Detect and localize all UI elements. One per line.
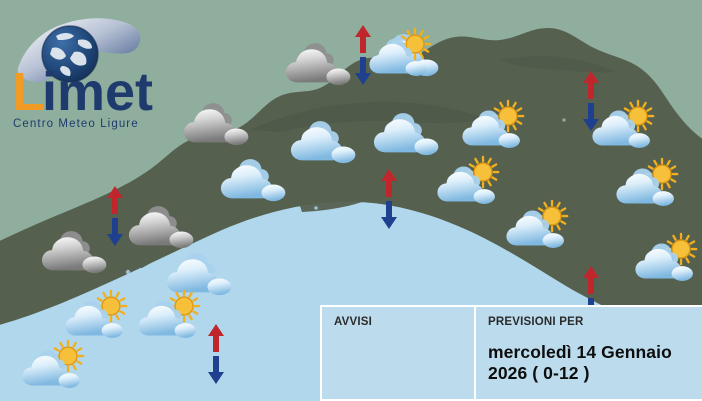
avvisi-heading: AVVISI: [334, 316, 462, 329]
arrow-down-icon: [107, 218, 123, 246]
arrow-down-icon: [208, 356, 224, 384]
arrow-trend-3-icon: [378, 168, 400, 230]
arrow-up-icon: [355, 25, 371, 53]
arrow-up-icon: [583, 71, 599, 99]
panel-avvisi[interactable]: AVVISI: [322, 307, 474, 399]
cloud-side-puff: [331, 147, 355, 164]
panel-previsioni[interactable]: PREVISIONI PER mercoledì 14 Gennaio 2026…: [476, 307, 702, 399]
sun-cloud-5-icon: [590, 100, 670, 150]
arrow-up-icon: [208, 324, 224, 352]
cloud-overcast-4-icon: [39, 228, 113, 274]
arrow-trend-1-icon: [352, 24, 374, 86]
arrow-down-icon: [583, 103, 599, 131]
cloud-side-puff: [543, 233, 564, 248]
weather-map-stage: L imet Centro Meteo Ligure AVVISI PREVIS…: [0, 0, 702, 401]
sun-cloud-6-icon: [614, 158, 694, 208]
arrow-down-icon: [381, 201, 397, 229]
cloud-side-puff: [499, 133, 520, 148]
cloud-side-puff: [629, 133, 650, 148]
cloud-side-puff: [653, 191, 674, 206]
sun-cloud-4-icon: [504, 200, 584, 250]
sun-cloud-10-icon: [20, 340, 100, 390]
sun-cloud-3-icon: [435, 156, 515, 206]
cloud-side-puff: [224, 129, 248, 146]
cloud-side-puff: [672, 266, 693, 281]
sun-cloud-1-icon: [367, 28, 447, 78]
sun-cloud-9-icon: [136, 290, 216, 340]
cloud-side-puff: [59, 373, 80, 388]
arrow-down-icon: [355, 57, 371, 85]
previsioni-line2: 2026 ( 0-12 ): [488, 363, 690, 384]
arrow-up-icon: [381, 169, 397, 197]
cloud-side-puff: [175, 323, 196, 338]
previsioni-body: mercoledì 14 Gennaio 2026 ( 0-12 ): [488, 342, 690, 385]
cloud-light-3-icon: [371, 110, 445, 156]
cloud-light-2-icon: [288, 118, 362, 164]
sun-cloud-2-icon: [460, 100, 540, 150]
cloud-side-puff: [326, 69, 350, 86]
previsioni-heading: PREVISIONI PER: [488, 316, 690, 329]
cloud-overcast-2-icon: [181, 100, 255, 146]
cloud-side-puff: [82, 257, 106, 274]
sun-cloud-8-icon: [63, 290, 143, 340]
cloud-side-puff: [414, 139, 438, 156]
cloud-light-4-icon: [218, 156, 292, 202]
cloud-side-puff: [102, 323, 123, 338]
arrow-trend-2-icon: [580, 70, 602, 132]
arrow-up-icon: [583, 266, 599, 294]
cloud-side-puff: [261, 185, 285, 202]
arrow-up-icon: [107, 186, 123, 214]
cloud-side-puff: [474, 189, 495, 204]
arrow-trend-6-icon: [205, 323, 227, 385]
cloud-side-puff: [169, 232, 193, 249]
cloud-overcast-3-icon: [126, 203, 200, 249]
cloud-side-puff: [406, 61, 427, 76]
cloud-overcast-1-icon: [283, 40, 357, 86]
info-panels: AVVISI PREVISIONI PER mercoledì 14 Genna…: [320, 305, 702, 401]
previsioni-line1: mercoledì 14 Gennaio: [488, 342, 690, 363]
arrow-trend-4-icon: [104, 185, 126, 247]
sun-cloud-7-icon: [633, 233, 702, 283]
